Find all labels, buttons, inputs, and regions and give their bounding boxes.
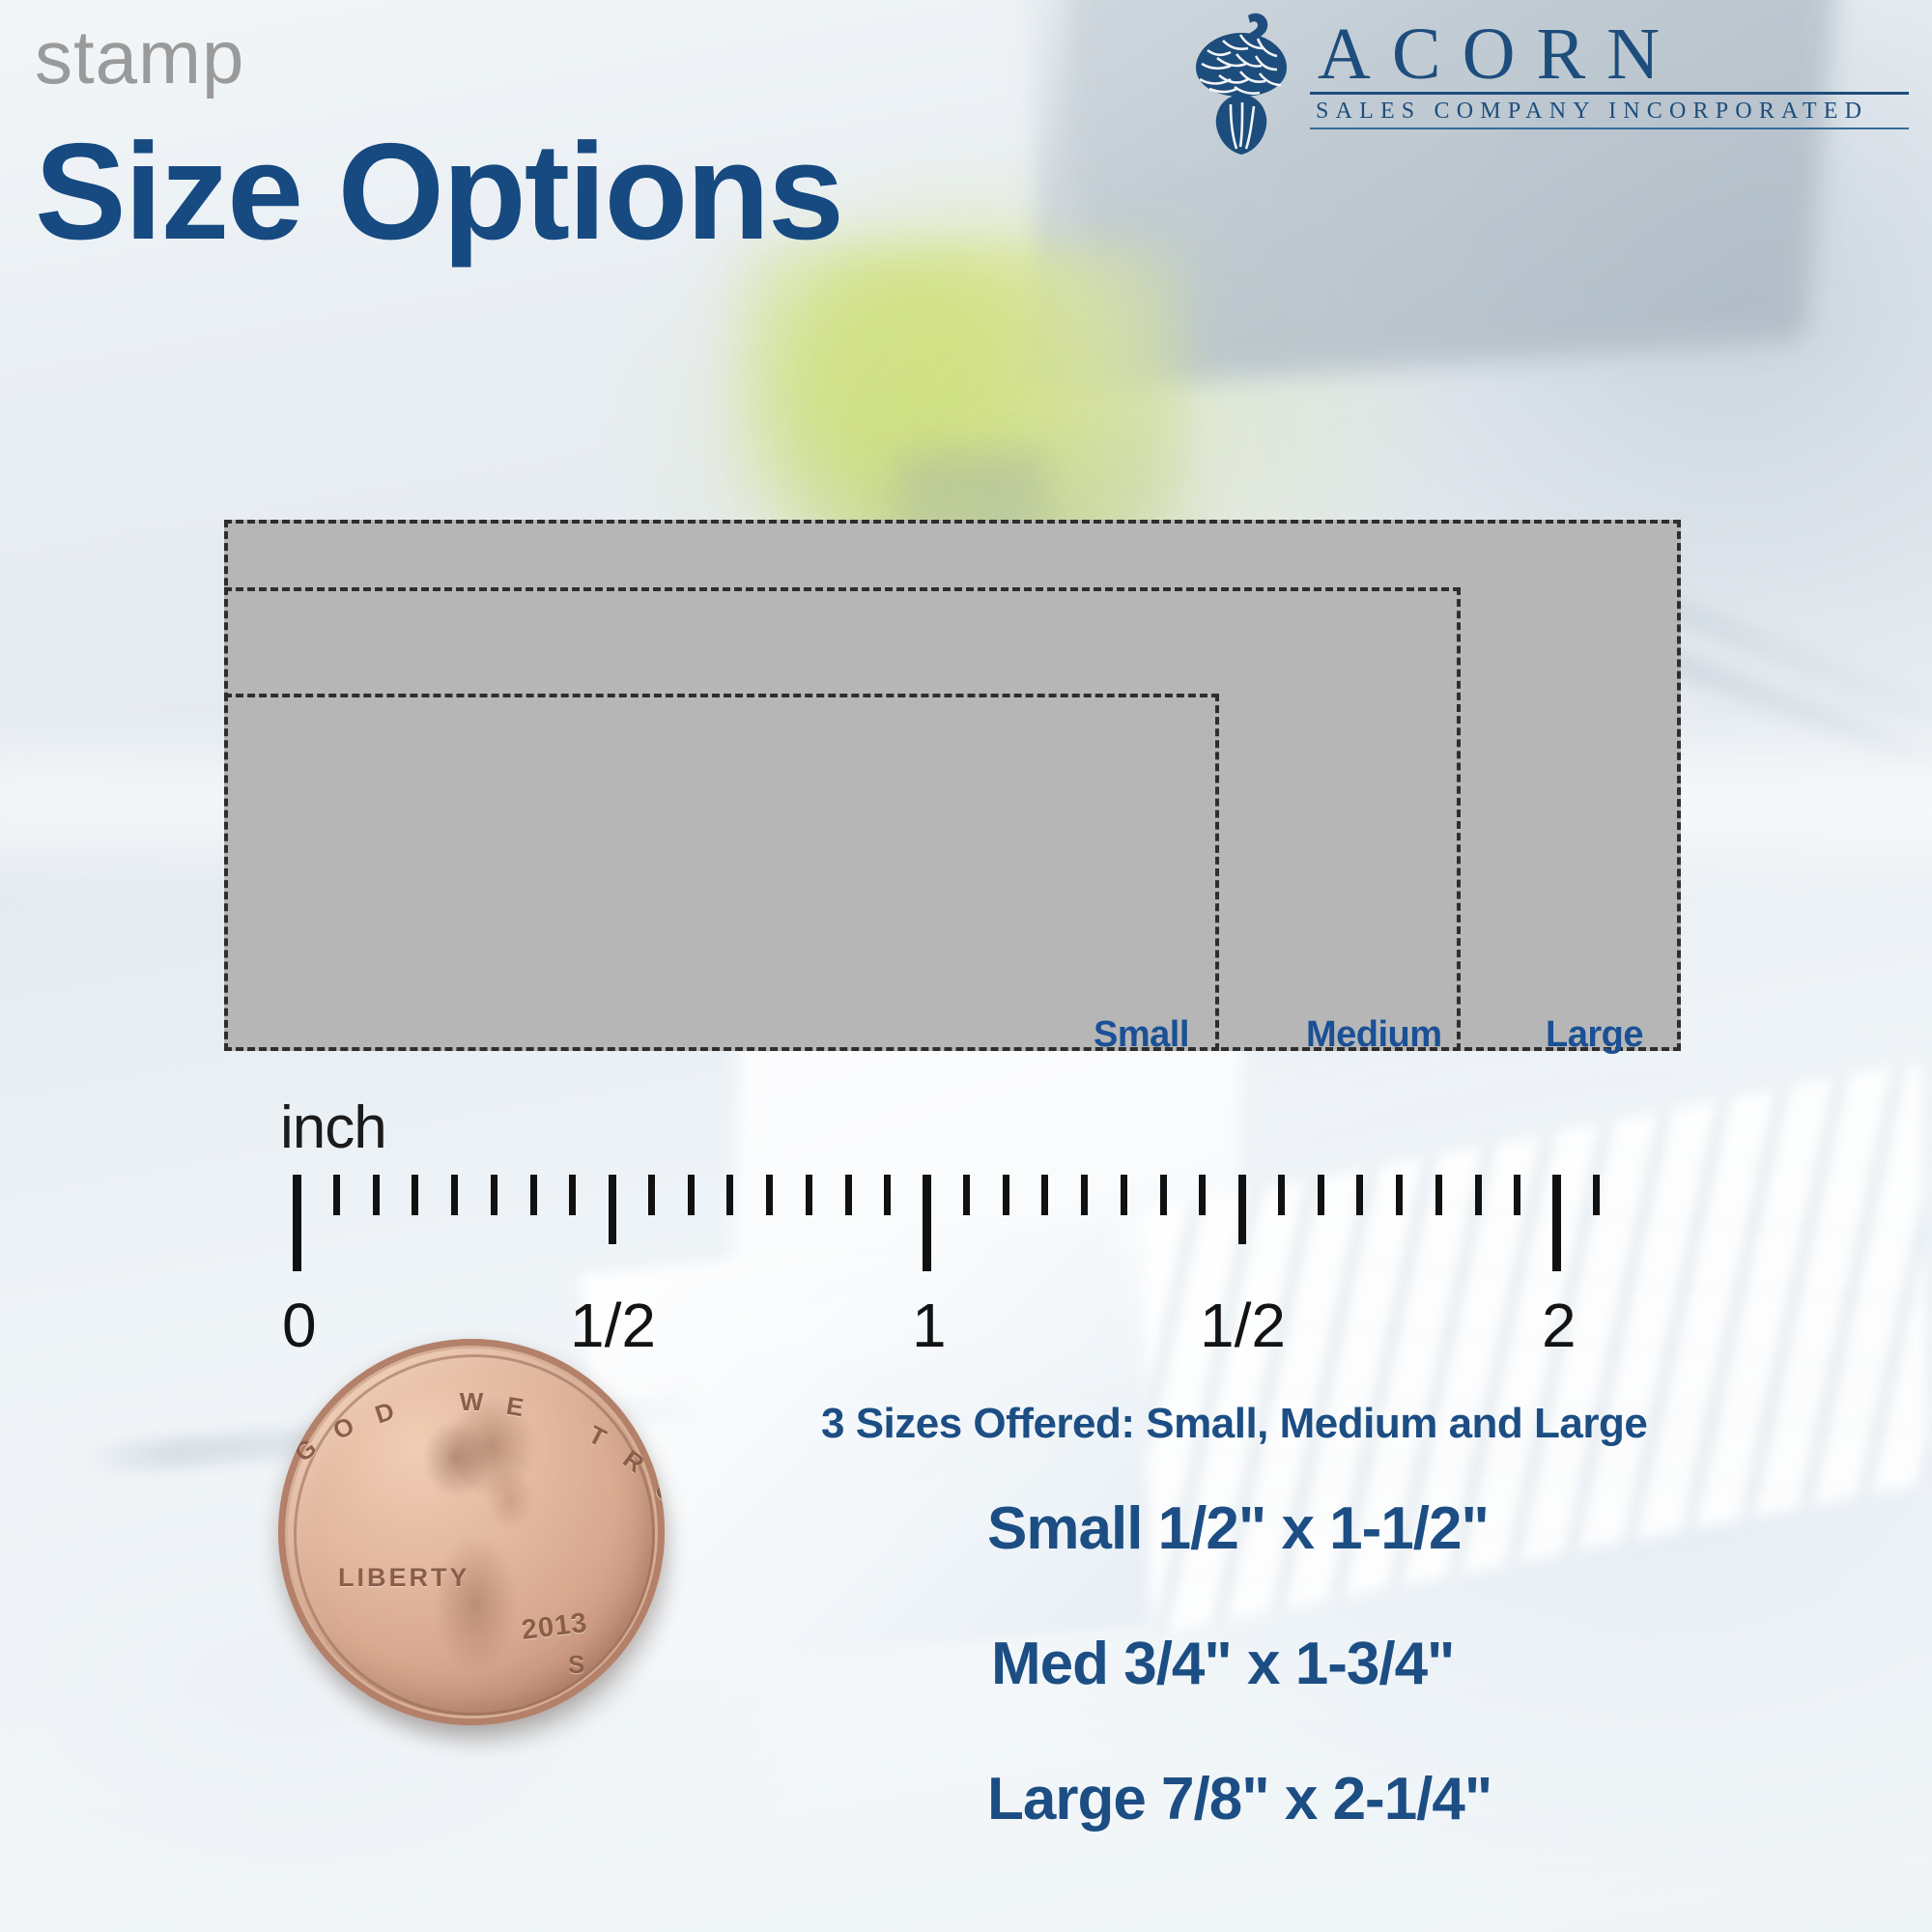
penny-motto-char: D xyxy=(371,1396,398,1430)
penny-motto-char xyxy=(278,1469,287,1495)
penny-motto-char: O xyxy=(328,1410,359,1446)
ruler-tick-minor xyxy=(1081,1175,1088,1215)
penny-scale-reference: IN GOD WE TRUST LIBERTY 2013 S xyxy=(278,1339,684,1745)
ruler-tick-minor xyxy=(1278,1175,1285,1215)
offer-size-medium: Med 3/4" x 1-3/4" xyxy=(991,1634,1454,1694)
ruler-tick-minor xyxy=(688,1175,695,1215)
ruler-unit-label: inch xyxy=(280,1098,386,1158)
ruler-tick-minor xyxy=(1160,1175,1167,1215)
offer-headline: 3 Sizes Offered: Small, Medium and Large xyxy=(821,1403,1647,1445)
ruler-tick-minor xyxy=(333,1175,340,1215)
penny-motto-char: R xyxy=(617,1444,650,1479)
penny-mint-mark: S xyxy=(568,1650,584,1680)
ruler-tick-major xyxy=(293,1175,301,1271)
penny-motto-char: E xyxy=(504,1391,526,1423)
ruler-tick-minor xyxy=(766,1175,773,1215)
penny-motto-char: U xyxy=(648,1475,665,1509)
size-rect-label-medium: Medium xyxy=(1306,1016,1442,1053)
ruler-tick-minor xyxy=(884,1175,891,1215)
penny-motto: IN GOD WE TRUST xyxy=(278,1339,665,1725)
ruler-tick-minor xyxy=(1475,1175,1482,1215)
page-eyebrow: stamp xyxy=(35,19,244,95)
page-title: Size Options xyxy=(35,124,842,261)
ruler-tick-minor xyxy=(806,1175,812,1215)
ruler-tick-minor xyxy=(963,1175,970,1215)
ruler-tick-minor xyxy=(1318,1175,1324,1215)
ruler-tick-half xyxy=(1238,1175,1246,1244)
brand-name: ACORN xyxy=(1310,19,1909,89)
ruler-tick-minor xyxy=(1199,1175,1206,1215)
ruler-tick-label: 2 xyxy=(1542,1294,1577,1356)
penny-motto-char xyxy=(550,1402,566,1433)
ruler-tick-minor xyxy=(1396,1175,1403,1215)
ruler-tick-half xyxy=(609,1175,616,1244)
penny-liberty: LIBERTY xyxy=(338,1563,470,1593)
penny-motto-char: W xyxy=(460,1387,484,1417)
size-options-infographic: stamp Size Options ACORN SALES COMPANY I… xyxy=(0,0,1932,1932)
ruler-tick-minor xyxy=(491,1175,497,1215)
ruler-tick-label: 1 xyxy=(912,1294,947,1356)
ruler-tick-label: 1/2 xyxy=(1200,1294,1286,1356)
ruler-tick-minor xyxy=(1356,1175,1363,1215)
brand-tagline: SALES COMPANY INCORPORATED xyxy=(1310,97,1909,126)
size-rect-small[interactable] xyxy=(224,694,1219,1051)
ruler-tick-minor xyxy=(451,1175,458,1215)
size-rect-label-small: Small xyxy=(1094,1016,1189,1053)
ruler-tick-major xyxy=(1552,1175,1561,1271)
brand-rule-top xyxy=(1310,92,1909,95)
ruler-tick-minor xyxy=(569,1175,576,1215)
penny-motto-char: T xyxy=(583,1420,611,1454)
ruler-tick-minor xyxy=(1121,1175,1127,1215)
ruler-tick-minor xyxy=(726,1175,733,1215)
ruler-tick-minor xyxy=(845,1175,852,1215)
penny-motto-char: G xyxy=(289,1433,323,1468)
offer-size-large: Large 7/8" x 2-1/4" xyxy=(987,1770,1492,1830)
ruler-tick-minor xyxy=(1003,1175,1009,1215)
ruler-tick-minor xyxy=(1514,1175,1520,1215)
ruler-tick-minor xyxy=(530,1175,537,1215)
ruler-tick-minor xyxy=(412,1175,418,1215)
offer-size-small: Small 1/2" x 1-1/2" xyxy=(987,1499,1489,1559)
ruler-tick-minor xyxy=(1593,1175,1600,1215)
ruler-tick-minor xyxy=(373,1175,380,1215)
acorn-icon xyxy=(1188,12,1296,156)
brand-logo[interactable]: ACORN SALES COMPANY INCORPORATED xyxy=(1188,8,1909,156)
brand-rule-bottom xyxy=(1310,128,1909,129)
ruler-tick-minor xyxy=(1435,1175,1442,1215)
size-rect-label-large: Large xyxy=(1546,1016,1643,1053)
penny-motto-char xyxy=(422,1390,434,1421)
ruler-tick-minor xyxy=(1041,1175,1048,1215)
ruler-tick-minor xyxy=(648,1175,655,1215)
penny-coin: IN GOD WE TRUST LIBERTY 2013 S xyxy=(278,1339,665,1725)
ruler-tick-major xyxy=(923,1175,931,1271)
